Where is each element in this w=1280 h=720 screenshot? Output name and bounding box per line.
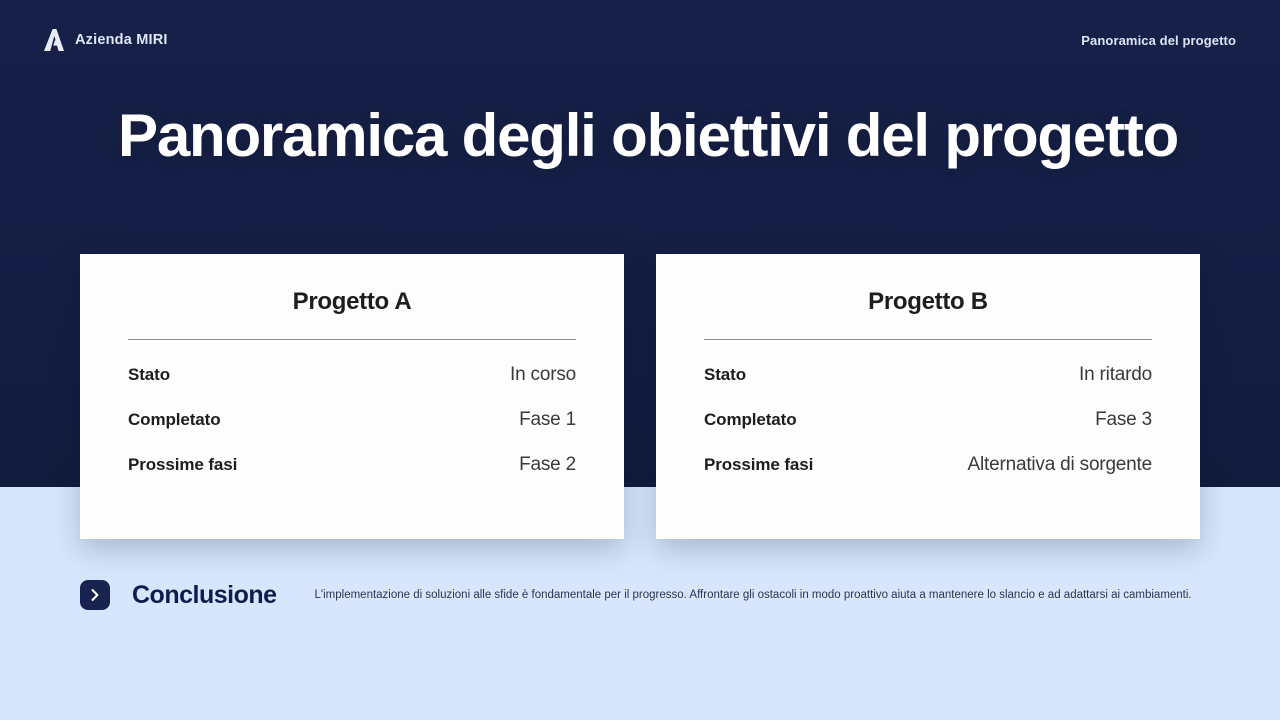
row-label: Stato: [128, 365, 170, 385]
project-cards: Progetto A Stato In corso Completato Fas…: [80, 254, 1200, 539]
row-value: Fase 2: [519, 454, 576, 476]
card-divider: [704, 339, 1152, 340]
brand: Azienda MIRI: [44, 29, 168, 51]
brand-name: Azienda MIRI: [75, 32, 168, 48]
conclusion-text: L'implementazione di soluzioni alle sfid…: [315, 587, 1220, 604]
table-row: Completato Fase 3: [704, 409, 1152, 454]
row-label: Stato: [704, 365, 746, 385]
row-label: Prossime fasi: [704, 455, 813, 475]
row-value: Fase 1: [519, 409, 576, 431]
row-value: Alternativa di sorgente: [968, 454, 1152, 476]
project-card-b: Progetto B Stato In ritardo Completato F…: [656, 254, 1200, 539]
conclusion-heading: Conclusione: [132, 581, 277, 610]
table-row: Stato In corso: [128, 364, 576, 409]
card-rows: Stato In corso Completato Fase 1 Prossim…: [128, 364, 576, 499]
row-label: Prossime fasi: [128, 455, 237, 475]
chevron-right-icon: [80, 580, 110, 610]
card-title: Progetto B: [704, 288, 1152, 316]
table-row: Completato Fase 1: [128, 409, 576, 454]
conclusion-section: Conclusione L'implementazione di soluzio…: [80, 580, 1220, 610]
page-title: Panoramica degli obiettivi del progetto: [118, 102, 1218, 169]
row-value: In ritardo: [1079, 364, 1152, 386]
card-divider: [128, 339, 576, 340]
project-card-a: Progetto A Stato In corso Completato Fas…: [80, 254, 624, 539]
row-label: Completato: [128, 410, 221, 430]
row-value: In corso: [510, 364, 576, 386]
header-bar: Azienda MIRI Panoramica del progetto: [0, 0, 1280, 80]
header-right-label: Panoramica del progetto: [1081, 33, 1236, 48]
table-row: Stato In ritardo: [704, 364, 1152, 409]
a-mark-logo-icon: [44, 29, 64, 51]
slide: Azienda MIRI Panoramica del progetto Pan…: [0, 0, 1280, 720]
row-value: Fase 3: [1095, 409, 1152, 431]
card-title: Progetto A: [128, 288, 576, 316]
row-label: Completato: [704, 410, 797, 430]
card-rows: Stato In ritardo Completato Fase 3 Pross…: [704, 364, 1152, 499]
table-row: Prossime fasi Fase 2: [128, 454, 576, 499]
table-row: Prossime fasi Alternativa di sorgente: [704, 454, 1152, 499]
